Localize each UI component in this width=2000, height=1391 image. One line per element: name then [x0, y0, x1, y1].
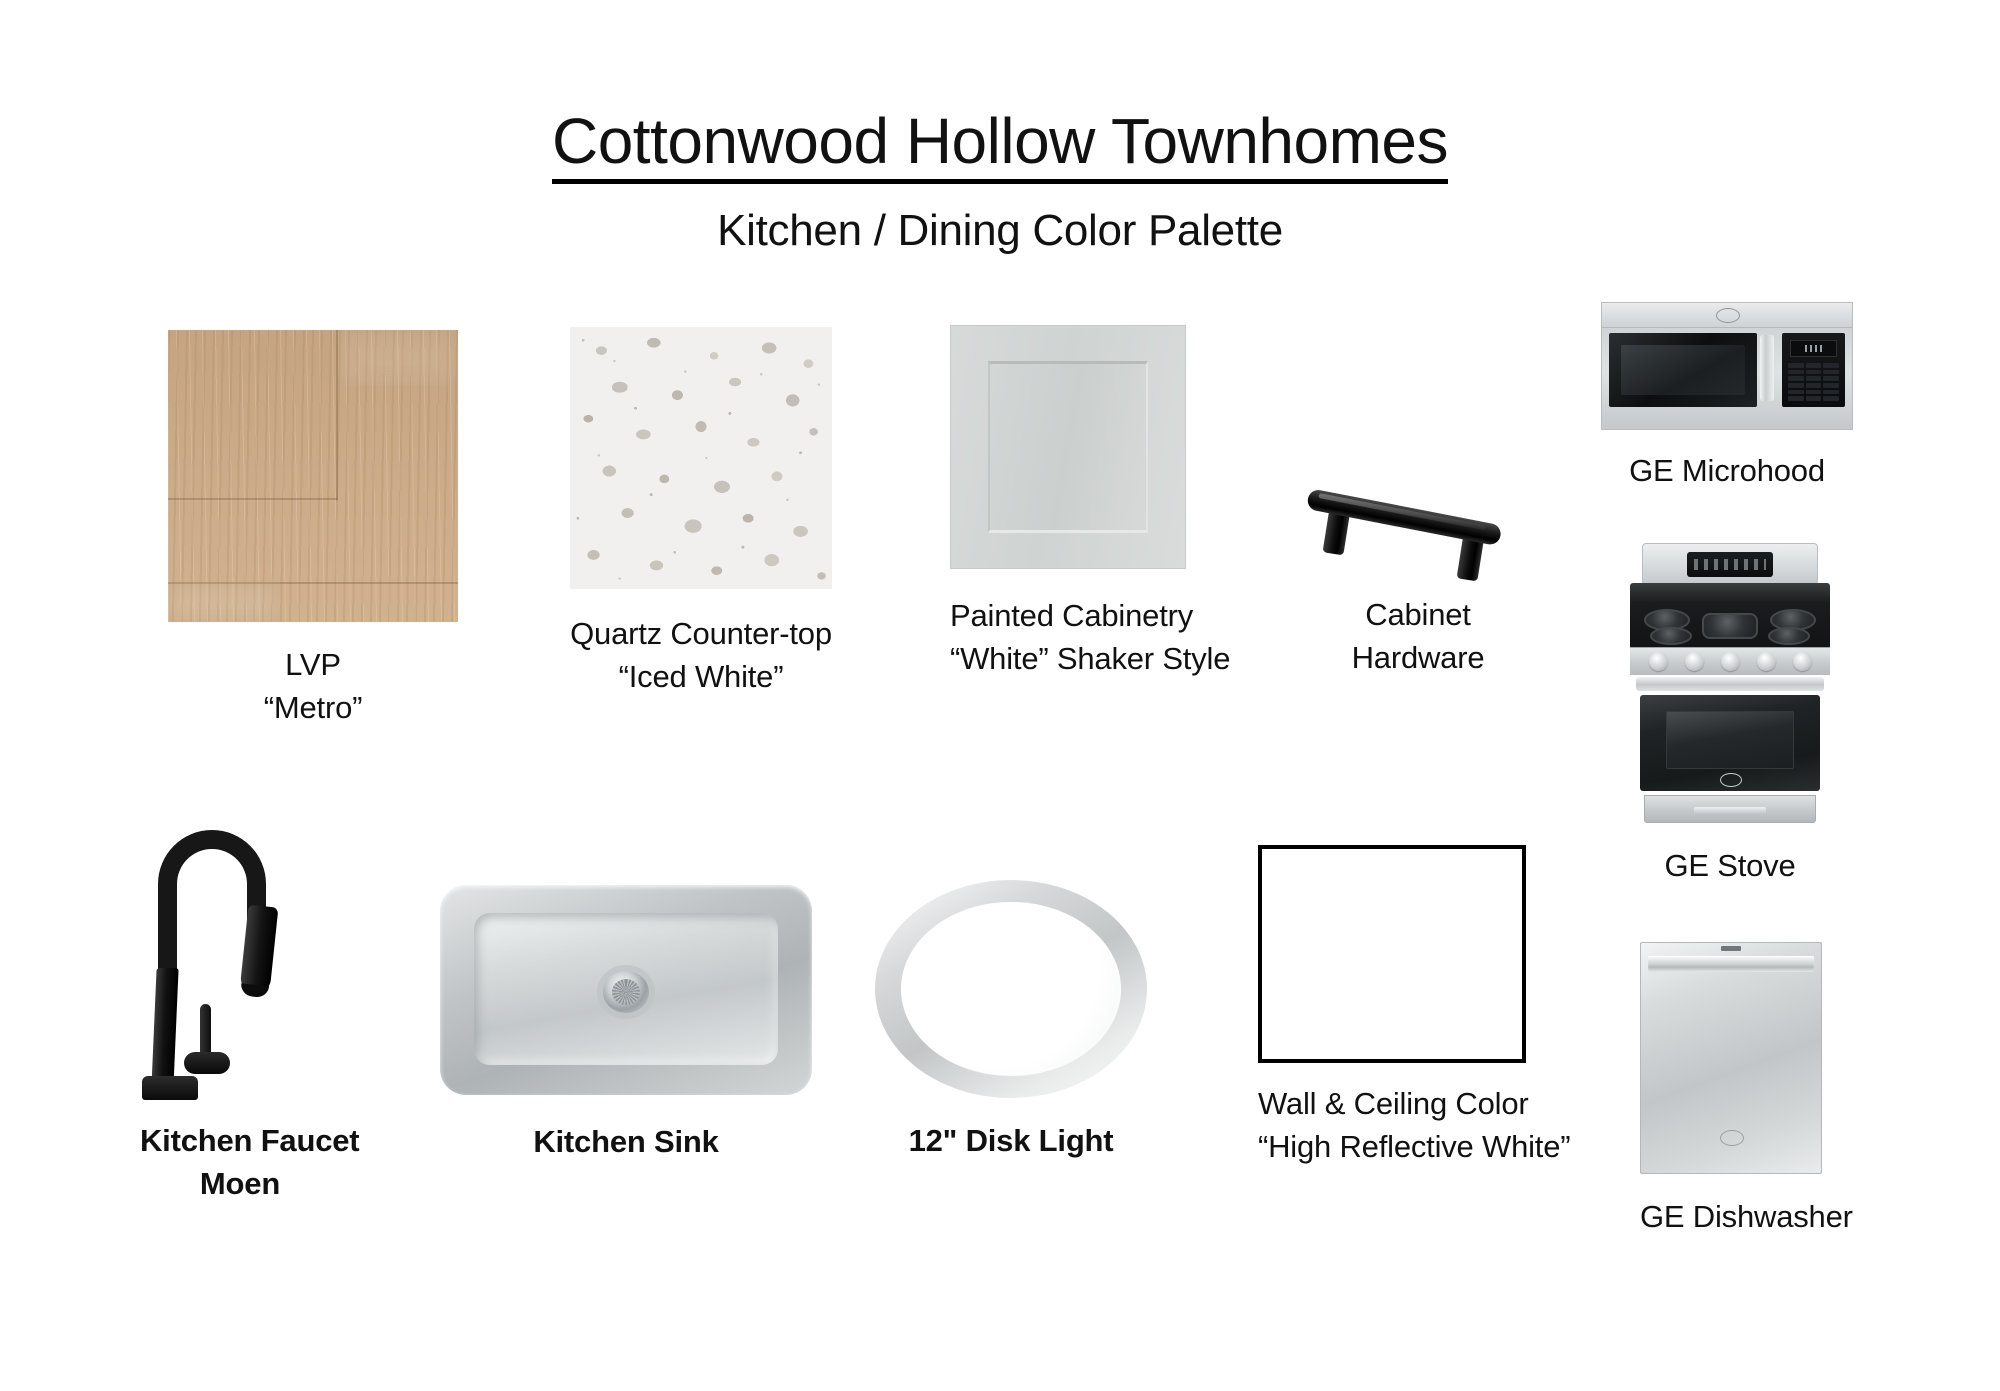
item-disklight[interactable]: 12" Disk Light	[875, 880, 1147, 1163]
dishwasher-vent	[1721, 946, 1741, 951]
caption-line: Hardware	[1300, 637, 1536, 680]
microwave-control-panel	[1782, 333, 1845, 407]
burner-icon	[1768, 627, 1810, 645]
quartz-speckle-swatch-icon	[570, 327, 832, 589]
shaker-cabinet-door-icon	[950, 325, 1186, 569]
board-header: Cottonwood Hollow Townhomes Kitchen / Di…	[0, 108, 2000, 256]
caption-line: Moen	[140, 1163, 340, 1206]
range-cooktop	[1630, 583, 1830, 649]
caption-line: Quartz Counter-top	[570, 613, 832, 656]
item-dishwasher[interactable]: GE Dishwasher	[1640, 942, 1822, 1239]
ge-logo-icon	[1716, 308, 1740, 323]
range-knob-icon	[1649, 652, 1668, 671]
pulldown-kitchen-faucet-icon	[140, 828, 340, 1098]
undermount-single-bowl-sink-icon	[440, 885, 812, 1095]
microwave-door	[1609, 333, 1757, 407]
caption-lvp: LVP “Metro”	[168, 644, 458, 730]
caption-line: Painted Cabinetry	[950, 595, 1186, 638]
range-backguard	[1642, 543, 1818, 587]
disk-light-diffuser	[901, 902, 1121, 1076]
round-disk-light-icon	[875, 880, 1147, 1098]
oven-door-handle	[1636, 677, 1824, 691]
storage-drawer	[1644, 795, 1816, 823]
caption-line: GE Stove	[1630, 845, 1830, 888]
burner-icon	[1650, 627, 1692, 645]
caption-line: “High Reflective White”	[1258, 1126, 1526, 1169]
caption-disklight: 12" Disk Light	[875, 1120, 1147, 1163]
item-lvp[interactable]: LVP “Metro”	[168, 330, 458, 730]
caption-wallcolor: Wall & Ceiling Color “High Reflective Wh…	[1258, 1083, 1526, 1169]
caption-line: Kitchen Sink	[440, 1121, 812, 1164]
caption-stove: GE Stove	[1630, 845, 1830, 888]
bar-pull-handle-icon	[1300, 452, 1536, 572]
item-microhood[interactable]: GE Microhood	[1601, 302, 1853, 493]
caption-line: Kitchen Faucet	[140, 1120, 340, 1163]
over-range-microwave-icon	[1601, 302, 1853, 430]
page-title: Cottonwood Hollow Townhomes	[552, 108, 1448, 184]
caption-line: Wall & Ceiling Color	[1258, 1083, 1526, 1126]
caption-line: “White” Shaker Style	[950, 638, 1186, 681]
range-knob-icon	[1793, 652, 1812, 671]
caption-line: GE Dishwasher	[1640, 1196, 1822, 1239]
range-knob-icon	[1685, 652, 1704, 671]
caption-microhood: GE Microhood	[1601, 450, 1853, 493]
dishwasher-handle	[1648, 956, 1814, 972]
item-stove[interactable]: GE Stove	[1630, 543, 1830, 888]
caption-sink: Kitchen Sink	[440, 1121, 812, 1164]
caption-hardware: Cabinet Hardware	[1300, 594, 1536, 680]
faucet-base	[142, 1076, 198, 1100]
microwave-display	[1790, 340, 1837, 357]
faucet-column	[151, 968, 178, 1088]
ge-logo-icon	[1720, 1130, 1744, 1146]
range-knob-icon	[1757, 652, 1776, 671]
item-quartz[interactable]: Quartz Counter-top “Iced White”	[570, 327, 832, 699]
microwave-keypad	[1788, 363, 1839, 401]
faucet-handle-hub	[184, 1052, 230, 1074]
gas-range-icon	[1630, 543, 1830, 825]
item-sink[interactable]: Kitchen Sink	[440, 885, 812, 1164]
caption-dishwasher: GE Dishwasher	[1640, 1196, 1822, 1239]
oven-door	[1640, 695, 1820, 791]
caption-line: “Iced White”	[570, 656, 832, 699]
range-control-panel	[1687, 552, 1773, 577]
caption-cabinetry: Painted Cabinetry “White” Shaker Style	[950, 595, 1186, 681]
sink-basin	[474, 913, 778, 1065]
ge-logo-icon	[1720, 773, 1742, 787]
caption-line: LVP	[168, 644, 458, 687]
caption-quartz: Quartz Counter-top “Iced White”	[570, 613, 832, 699]
caption-line: Cabinet	[1300, 594, 1536, 637]
item-faucet[interactable]: Kitchen Faucet Moen	[140, 828, 340, 1206]
caption-line: “Metro”	[168, 687, 458, 730]
item-hardware[interactable]: Cabinet Hardware	[1300, 452, 1536, 680]
caption-line: 12" Disk Light	[875, 1120, 1147, 1163]
microwave-window	[1621, 345, 1745, 395]
center-griddle-burner-icon	[1702, 613, 1758, 639]
paint-color-chip-icon	[1258, 845, 1526, 1063]
range-knob-row	[1630, 647, 1830, 675]
caption-line: GE Microhood	[1601, 450, 1853, 493]
page-subtitle: Kitchen / Dining Color Palette	[0, 206, 2000, 256]
item-cabinetry[interactable]: Painted Cabinetry “White” Shaker Style	[950, 325, 1186, 681]
microwave-top-trim	[1602, 303, 1852, 328]
cabinet-panel-inset	[988, 361, 1148, 533]
dishwasher-icon	[1640, 942, 1822, 1174]
range-knob-icon	[1721, 652, 1740, 671]
item-wallcolor[interactable]: Wall & Ceiling Color “High Reflective Wh…	[1258, 845, 1526, 1169]
oven-window	[1666, 711, 1794, 769]
microwave-handle	[1760, 335, 1774, 401]
sink-drain-icon	[603, 971, 649, 1013]
wood-plank-swatch-icon	[168, 330, 458, 622]
caption-faucet: Kitchen Faucet Moen	[140, 1120, 340, 1206]
